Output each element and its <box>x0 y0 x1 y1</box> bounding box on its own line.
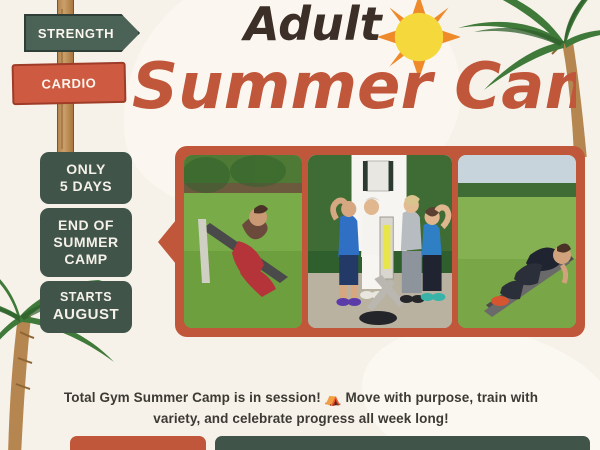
badge-start-date[interactable]: STARTS AUGUST <box>40 281 132 333</box>
badge-event-name-line1: END OF <box>44 217 128 234</box>
sun-icon <box>378 0 460 76</box>
bottom-bar-right[interactable] <box>215 436 590 450</box>
badge-duration-line1: ONLY <box>44 161 128 178</box>
frame-pointer-arrow <box>158 220 176 264</box>
tent-icon: ⛺ <box>325 389 342 409</box>
sign-strength[interactable]: STRENGTH <box>24 14 140 52</box>
badge-start-date-line2: AUGUST <box>44 306 128 324</box>
info-badge-group: ONLY 5 DAYS END OF SUMMER CAMP STARTS AU… <box>40 152 132 337</box>
badge-event-name-line3: CAMP <box>44 251 128 268</box>
caption-line2: variety, and celebrate progress all week… <box>153 411 448 426</box>
headline-main-text: Summer Camp <box>132 50 576 124</box>
bottom-bar-left[interactable] <box>70 436 206 450</box>
gallery-photo-2-image <box>308 155 452 328</box>
headline-main: Summer Camp <box>128 46 576 128</box>
gallery-photo-3-image <box>458 155 576 328</box>
gallery-photo-1-image <box>184 155 302 328</box>
photo-gallery-frame <box>175 146 585 337</box>
sign-cardio-label: CARDIO <box>41 75 96 91</box>
badge-duration[interactable]: ONLY 5 DAYS <box>40 152 132 204</box>
poster-canvas: Adult Summer Camp <box>0 0 600 450</box>
palm-tree-icon-top-right <box>436 0 600 157</box>
sign-strength-label: STRENGTH <box>38 26 114 41</box>
gallery-photo-2[interactable] <box>308 155 452 328</box>
gallery-photo-1[interactable] <box>184 155 302 328</box>
badge-start-date-line1: STARTS <box>44 290 128 305</box>
gallery-photo-3[interactable] <box>458 155 576 328</box>
caption-text: Total Gym Summer Camp is in session! ⛺ M… <box>58 388 544 430</box>
headline-top-text: Adult <box>241 0 384 51</box>
badge-event-name-line2: SUMMER <box>44 234 128 251</box>
badge-duration-line2: 5 DAYS <box>44 178 128 195</box>
sign-cardio[interactable]: CARDIO <box>12 62 127 105</box>
caption-line1-after: Move with purpose, train with <box>345 390 538 405</box>
caption-line1-before: Total Gym Summer Camp is in session! <box>64 390 321 405</box>
badge-event-name[interactable]: END OF SUMMER CAMP <box>40 208 132 277</box>
